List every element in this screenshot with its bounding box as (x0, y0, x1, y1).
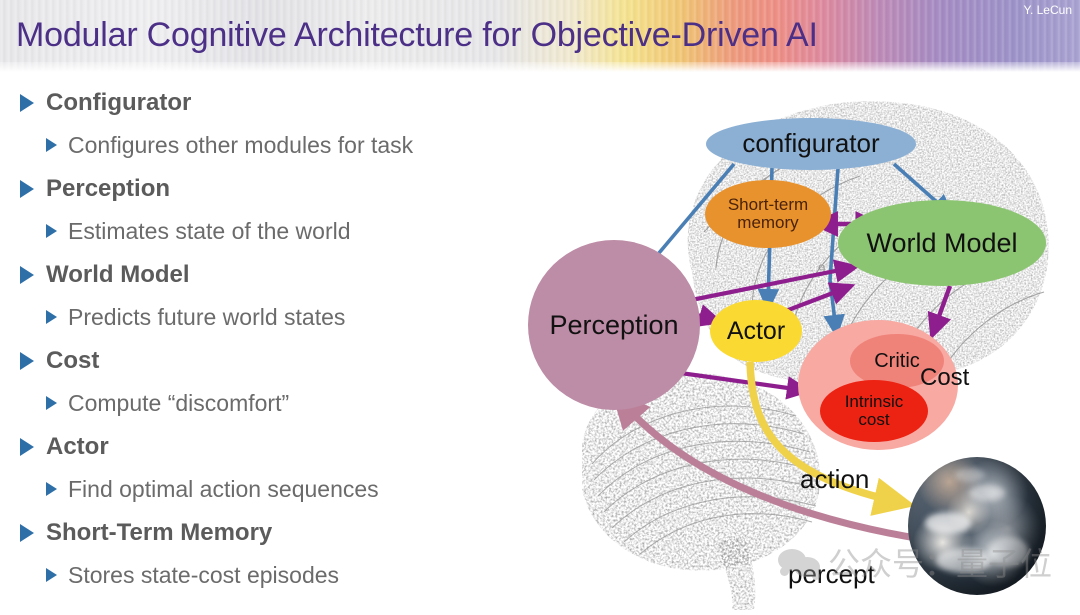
bullet-title: World Model (46, 261, 190, 289)
triangle-bullet-icon (46, 310, 57, 324)
bullet-subtitle: Compute “discomfort” (68, 390, 289, 417)
architecture-diagram: 9 6 (520, 72, 1080, 615)
page-title: Modular Cognitive Architecture for Objec… (16, 16, 818, 55)
node-intrinsic-cost[interactable]: Intrinsiccost (820, 380, 928, 442)
bullet-item-perception: Perception (0, 168, 560, 210)
bullet-sub-configurator: Configures other modules for task (0, 124, 560, 166)
bullet-item-configurator: Configurator (0, 82, 560, 124)
bullet-group-configurator: Configurator Configures other modules fo… (0, 82, 560, 166)
bullet-item-world-model: World Model (0, 254, 560, 296)
node-label: World Model (866, 229, 1017, 257)
triangle-bullet-icon (20, 180, 34, 198)
triangle-bullet-icon (20, 524, 34, 542)
bullet-list: Configurator Configures other modules fo… (0, 82, 560, 598)
node-short-term-memory[interactable]: Short-termmemory (705, 180, 831, 248)
triangle-bullet-icon (20, 266, 34, 284)
bullet-item-cost: Cost (0, 340, 560, 382)
triangle-bullet-icon (46, 568, 57, 582)
node-label: Perception (549, 311, 678, 339)
label-action: action (800, 462, 920, 498)
bullet-group-cost: Cost Compute “discomfort” (0, 340, 560, 424)
bullet-sub-world-model: Predicts future world states (0, 296, 560, 338)
slide-root: Modular Cognitive Architecture for Objec… (0, 0, 1080, 615)
bullet-sub-perception: Estimates state of the world (0, 210, 560, 252)
bullet-sub-short-term-memory: Stores state-cost episodes (0, 554, 560, 596)
triangle-bullet-icon (20, 438, 34, 456)
node-label: Intrinsiccost (845, 393, 904, 429)
node-label: Short-termmemory (728, 196, 808, 232)
bullet-group-perception: Perception Estimates state of the world (0, 168, 560, 252)
bullet-title: Short-Term Memory (46, 519, 272, 547)
bullet-item-actor: Actor (0, 426, 560, 468)
bullet-subtitle: Predicts future world states (68, 304, 345, 331)
node-perception[interactable]: Perception (528, 240, 700, 410)
node-label: Critic (874, 351, 920, 372)
author-tag: Y. LeCun (1024, 3, 1073, 17)
label-percept: percept (788, 557, 938, 593)
arrow-world-model-to-cost (934, 286, 950, 330)
label-cost: Cost (920, 362, 1020, 394)
bullet-title: Actor (46, 433, 109, 461)
triangle-bullet-icon (20, 352, 34, 370)
node-actor[interactable]: Actor (710, 300, 802, 362)
bullet-sub-actor: Find optimal action sequences (0, 468, 560, 510)
bullet-group-actor: Actor Find optimal action sequences (0, 426, 560, 510)
triangle-bullet-icon (20, 94, 34, 112)
arrow-configurator-to-cost (830, 280, 836, 330)
node-world-model[interactable]: World Model (838, 200, 1046, 286)
bullet-subtitle: Stores state-cost episodes (68, 562, 339, 589)
banner-fade (0, 62, 1080, 72)
node-label: configurator (742, 130, 879, 157)
bullet-title: Configurator (46, 89, 191, 117)
triangle-bullet-icon (46, 224, 57, 238)
bullet-subtitle: Configures other modules for task (68, 132, 413, 159)
bullet-group-short-term-memory: Short-Term Memory Stores state-cost epis… (0, 512, 560, 596)
triangle-bullet-icon (46, 138, 57, 152)
bullet-subtitle: Estimates state of the world (68, 218, 351, 245)
triangle-bullet-icon (46, 396, 57, 410)
node-label: Actor (727, 318, 785, 344)
bullet-group-world-model: World Model Predicts future world states (0, 254, 560, 338)
triangle-bullet-icon (46, 482, 57, 496)
bullet-item-short-term-memory: Short-Term Memory (0, 512, 560, 554)
bullet-title: Cost (46, 347, 99, 375)
node-configurator[interactable]: configurator (706, 118, 916, 170)
bullet-title: Perception (46, 175, 170, 203)
bullet-sub-cost: Compute “discomfort” (0, 382, 560, 424)
bullet-subtitle: Find optimal action sequences (68, 476, 379, 503)
